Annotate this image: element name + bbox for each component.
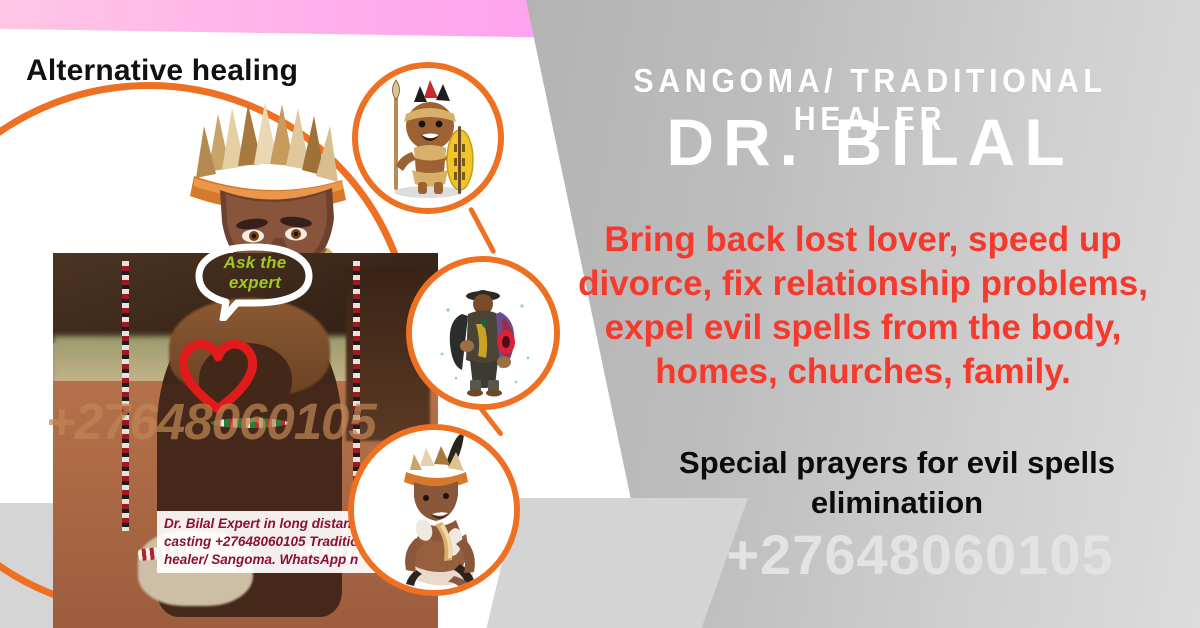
pink-gradient-bar [0,0,594,38]
thumbnail-crouching-warrior[interactable] [348,424,520,596]
speech-bubble-label: Ask the expert [207,253,303,292]
thumbnail-healer-in-robe[interactable] [406,256,560,410]
poster-canvas: Alternative healing [0,0,1200,628]
headline-doctor-name: DR. BILAL [560,108,1180,177]
page-title: Alternative healing [26,54,298,88]
circle-connector-line-1 [468,206,497,254]
special-prayers-text: Special prayers for evil spells eliminat… [612,443,1182,524]
services-description: Bring back lost lover, speed up divorce,… [546,218,1180,394]
phone-number-watermark: +27648060105 [640,522,1200,587]
thumbnail-cartoon-zulu-warrior[interactable] [352,62,504,214]
speech-bubble: Ask the expert [193,243,315,321]
